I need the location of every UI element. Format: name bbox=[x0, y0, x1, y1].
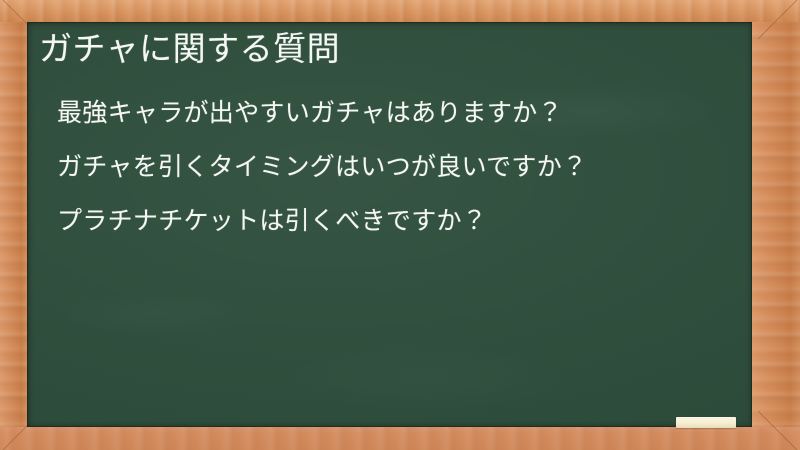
chalk-ledge bbox=[0, 427, 800, 450]
question-item-3: プラチナチケットは引くべきですか？ bbox=[57, 208, 587, 233]
frame-rail-left bbox=[0, 0, 27, 450]
chalkboard-slide: ガチャに関する質問 最強キャラが出やすいガチャはありますか？ ガチャを引くタイミ… bbox=[0, 0, 800, 450]
question-list: 最強キャラが出やすいガチャはありますか？ ガチャを引くタイミングはいつが良いです… bbox=[57, 100, 587, 262]
frame-rail-right bbox=[752, 0, 800, 450]
question-item-1: 最強キャラが出やすいガチャはありますか？ bbox=[57, 100, 587, 125]
frame-rail-top bbox=[0, 0, 800, 22]
board-title: ガチャに関する質問 bbox=[39, 28, 340, 69]
question-item-2: ガチャを引くタイミングはいつが良いですか？ bbox=[57, 154, 587, 179]
chalkboard-surface: ガチャに関する質問 最強キャラが出やすいガチャはありますか？ ガチャを引くタイミ… bbox=[27, 22, 752, 427]
chalk-stick bbox=[676, 417, 736, 428]
